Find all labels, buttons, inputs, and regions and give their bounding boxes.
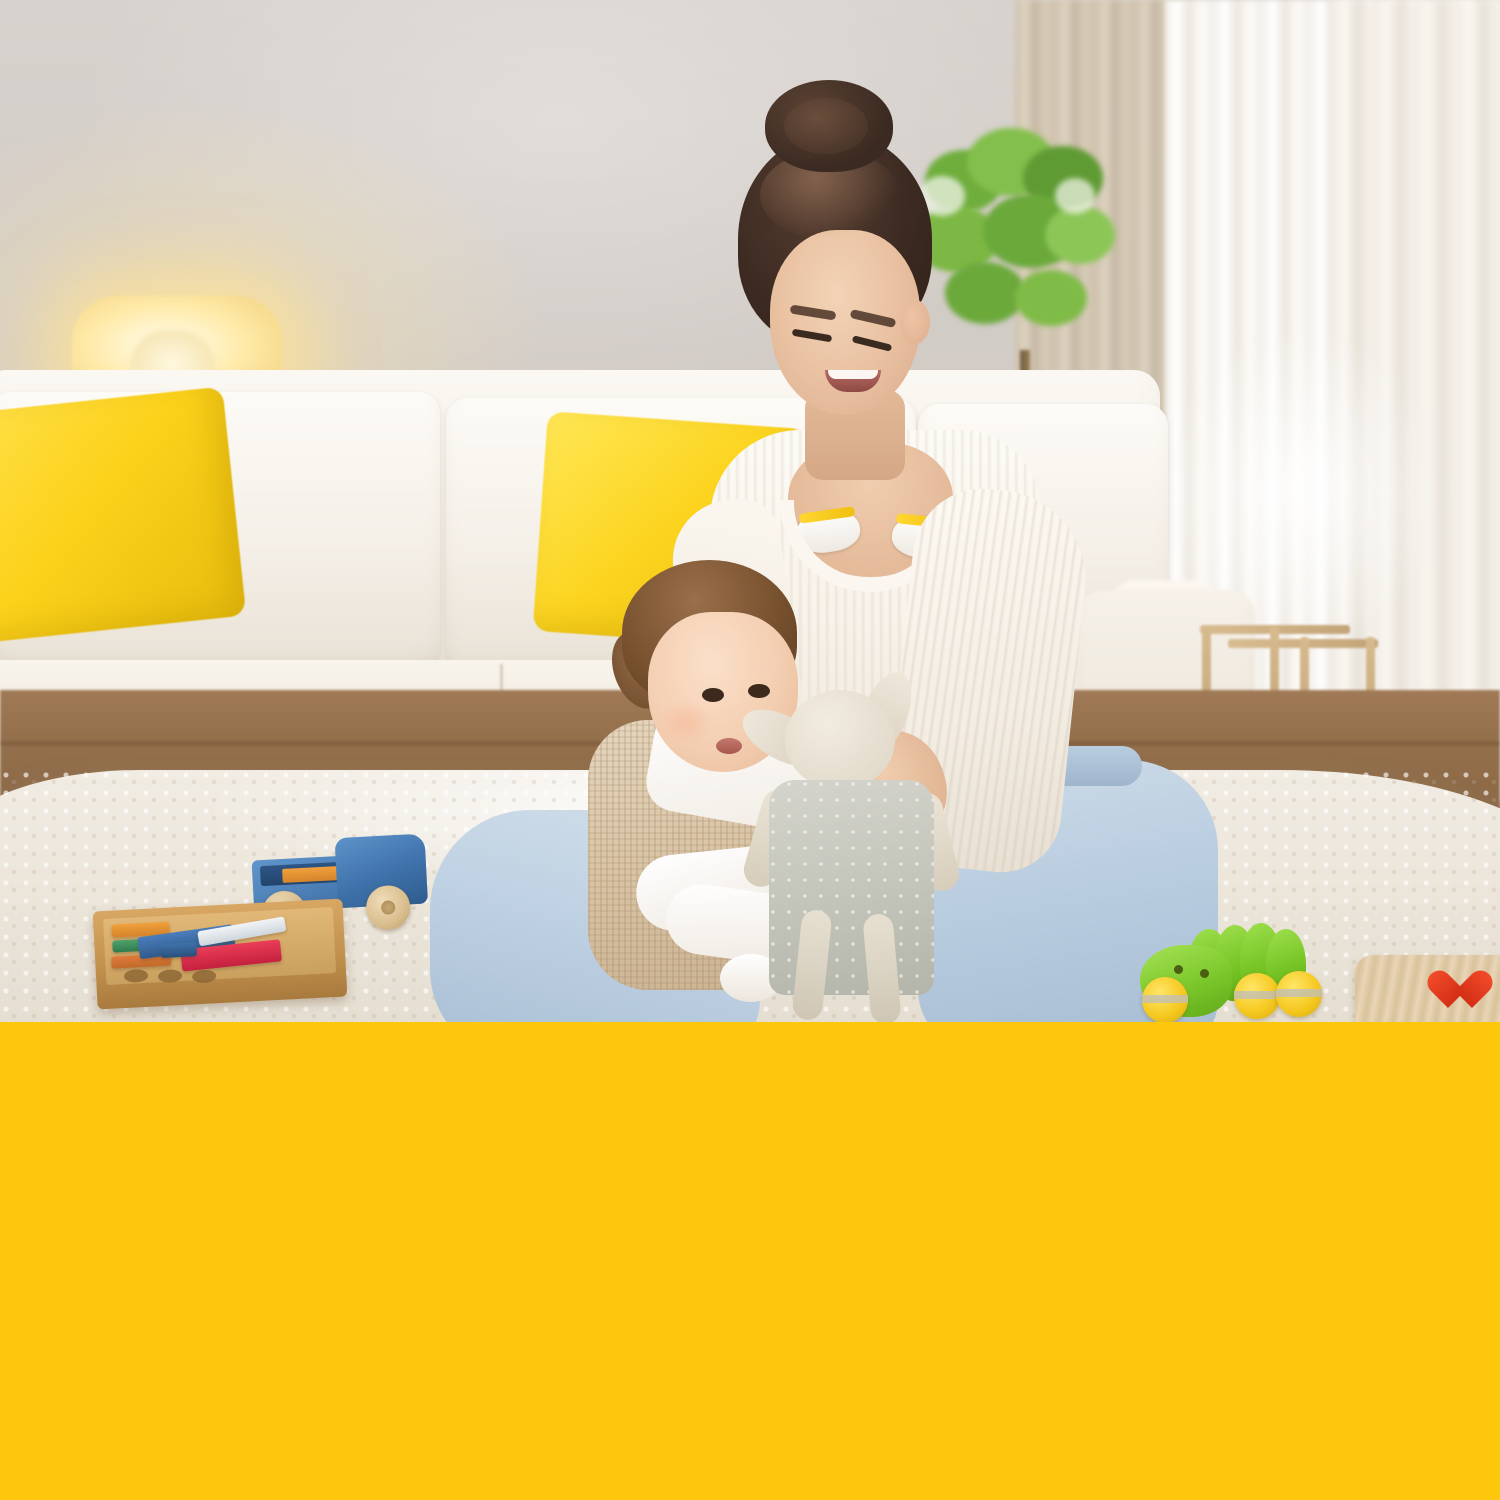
baby-cheek [658,700,712,746]
yellow-pillow-left [0,387,246,644]
baby-mouth [716,738,742,754]
product-feature-banner: Gentle, consistent pumping and trusted h… [0,0,1500,1500]
mother-ear [900,300,930,344]
yellow-text-band: Gentle, consistent pumping and trusted h… [0,1022,1500,1500]
block-blue-small [160,942,197,958]
mother-hair-bun-inner [784,98,868,154]
lifestyle-photo [0,0,1500,1022]
wooden-block-tray [93,899,348,1010]
tray-hole-3 [192,969,217,983]
caterpillar-wheel-2 [1234,973,1280,1019]
plush-bunny-doll [755,660,975,1022]
heart-icon [1448,972,1492,1012]
bunny-head [785,690,895,790]
caterpillar-wheel-1 [1142,977,1188,1022]
green-caterpillar-pull-toy [1140,915,1335,1022]
bunny-dress-texture [769,780,934,995]
truck-cargo-block [282,866,338,883]
baby-eye-left [702,688,724,702]
caterpillar-wheel-3 [1276,971,1322,1017]
